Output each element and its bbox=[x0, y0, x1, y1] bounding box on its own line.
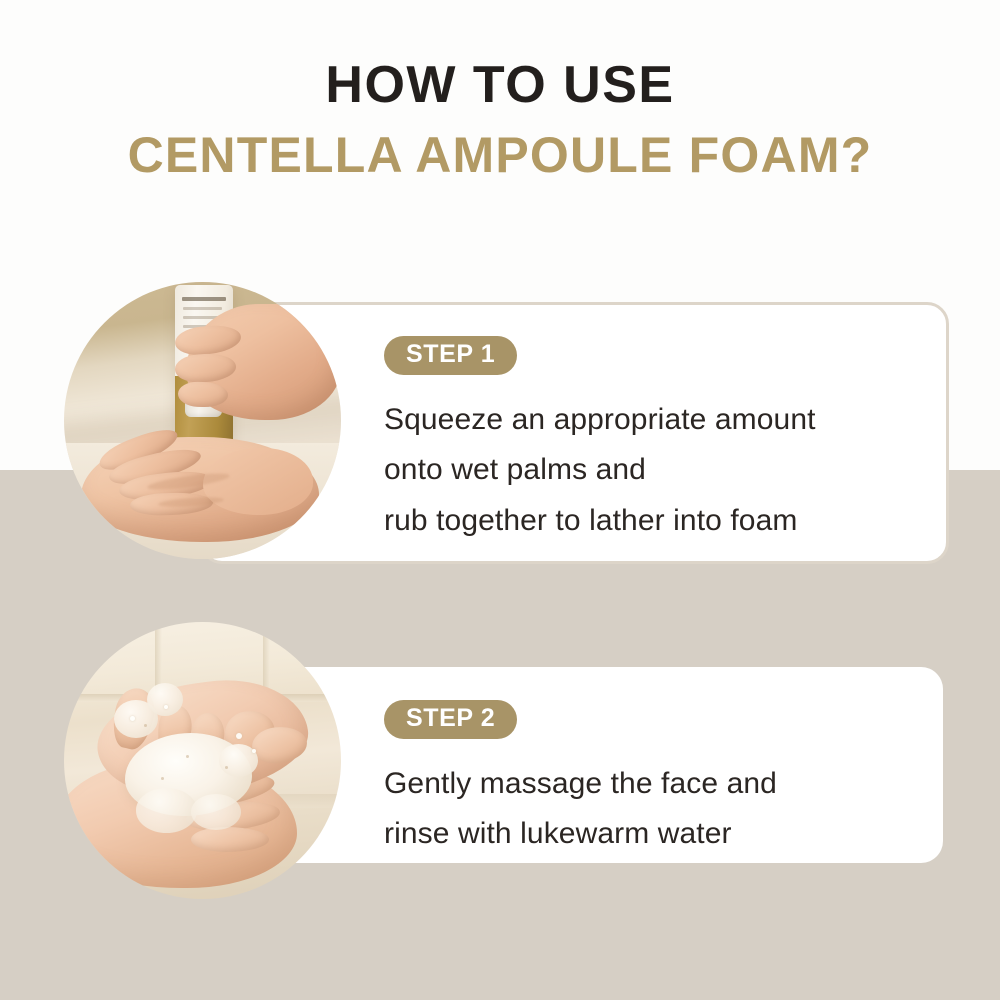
foam-bubble-3 bbox=[225, 766, 228, 769]
header: HOW TO USE CENTELLA AMPOULE FOAM? bbox=[0, 58, 1000, 181]
palm-thumb bbox=[203, 448, 314, 514]
foam-blob-4 bbox=[136, 788, 197, 832]
lower-hand-finger-3 bbox=[191, 827, 269, 852]
step-1-line-1: Squeeze an appropriate amount bbox=[384, 395, 924, 445]
step-2-instruction-lines: Gently massage the face and rinse with l… bbox=[384, 759, 924, 860]
foam-blob-2 bbox=[147, 683, 183, 716]
foam-blob-5 bbox=[191, 794, 241, 830]
foam-speck-2 bbox=[164, 705, 168, 709]
step-1-text: STEP 1 Squeeze an appropriate amount ont… bbox=[384, 336, 924, 546]
step-2-line-1: Gently massage the face and bbox=[384, 759, 924, 809]
step-2-text: STEP 2 Gently massage the face and rinse… bbox=[384, 700, 924, 860]
step-2-line-2: rinse with lukewarm water bbox=[384, 809, 924, 859]
page-title-sub: CENTELLA AMPOULE FOAM? bbox=[0, 129, 1000, 182]
step-1-line-3: rub together to lather into foam bbox=[384, 496, 924, 546]
tube-label-product-name bbox=[182, 297, 226, 301]
step-1-line-2: onto wet palms and bbox=[384, 445, 924, 495]
page-title-main: HOW TO USE bbox=[0, 58, 1000, 113]
step-2-badge: STEP 2 bbox=[384, 700, 517, 739]
step-1-photo bbox=[64, 282, 341, 559]
foam-bubble-2 bbox=[186, 755, 189, 758]
foam-speck-3 bbox=[236, 733, 242, 739]
tube-label-line-1 bbox=[183, 307, 223, 310]
step-1-badge: STEP 1 bbox=[384, 336, 517, 375]
step-1-instruction-lines: Squeeze an appropriate amount onto wet p… bbox=[384, 395, 924, 546]
step-2-photo bbox=[64, 622, 341, 899]
how-to-use-infographic: HOW TO USE CENTELLA AMPOULE FOAM? bbox=[0, 0, 1000, 1000]
